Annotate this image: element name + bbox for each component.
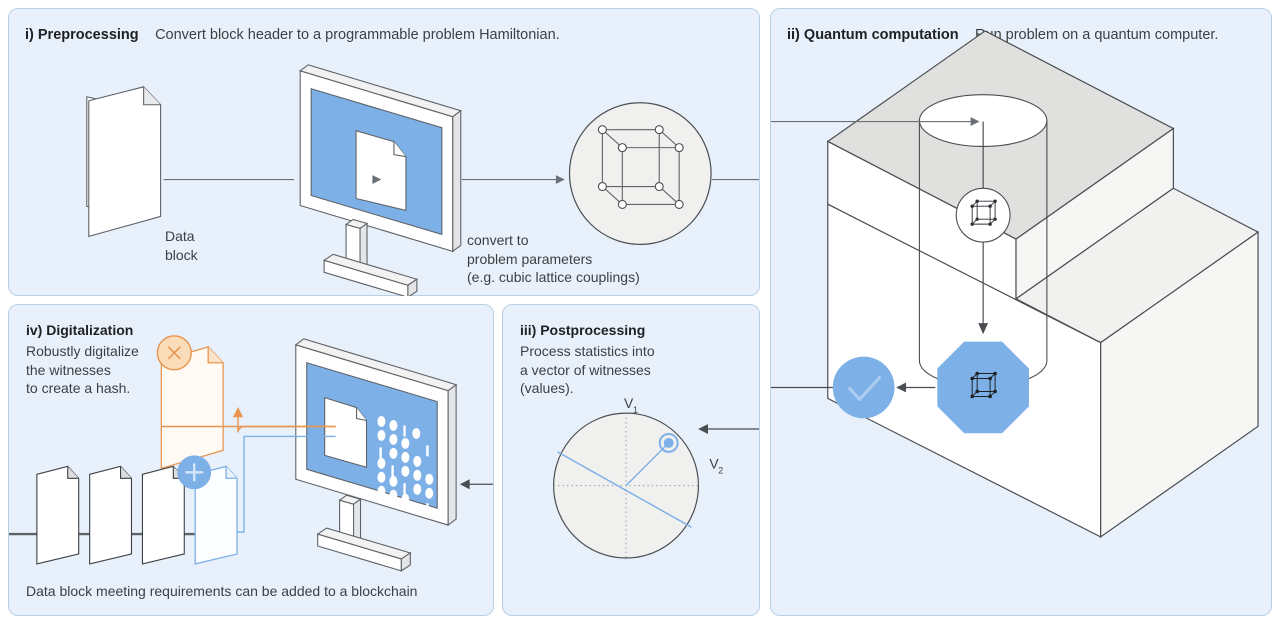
label-map-problem-to-qpu: map problem to QPU — [1019, 136, 1070, 192]
witness-point — [660, 434, 678, 452]
rejected-document — [161, 347, 223, 468]
blockchain-documents — [9, 455, 237, 564]
qpu-circle-nodes — [970, 200, 996, 226]
quantum-computer-graphics — [771, 9, 1271, 615]
panel-postprocessing: iii) Postprocessing Process statistics i… — [502, 304, 760, 616]
panel-quantum-description: Run problem on a quantum computer. — [963, 27, 1218, 43]
data-block-document — [87, 97, 141, 219]
arrow-monitor-to-lattice — [462, 176, 564, 183]
panel-digitalization-description: Robustly digitalize the witnesses to cre… — [26, 342, 139, 398]
arrow-in-map-problem — [771, 118, 978, 125]
arrow-in-from-postprocessing — [461, 480, 493, 488]
blockchain-document — [37, 466, 79, 564]
accepted-document — [195, 466, 237, 564]
arrow-head-into-screen — [373, 176, 380, 183]
panel-preprocessing-number: i) Preprocessing — [25, 27, 139, 43]
preprocessing-graphics — [9, 9, 759, 296]
panel-preprocessing: i) Preprocessing Convert block header to… — [8, 8, 760, 296]
panel-preprocessing-header: i) Preprocessing Convert block header to… — [25, 26, 560, 44]
witness-vector — [626, 446, 666, 486]
arrow-down-to-qpu — [979, 122, 987, 333]
axis-label-v1-sub: 1 — [633, 405, 638, 415]
panel-quantum-number: ii) Quantum computation — [787, 27, 959, 43]
accept-marker — [177, 455, 211, 489]
binary-readout — [377, 416, 433, 514]
panel-quantum-header: ii) Quantum computation Run problem on a… — [787, 26, 1218, 44]
panel-digitalization-caption: Data block meeting requirements can be a… — [26, 582, 417, 601]
monitor-preprocessing — [300, 65, 461, 296]
connector-accept — [222, 436, 336, 536]
cube-graph-nodes — [598, 126, 683, 209]
axis-label-v2: V — [709, 456, 719, 472]
panel-preprocessing-description: Convert block header to a programmable p… — [143, 27, 560, 43]
data-block-document-iso — [89, 87, 161, 237]
panel-postprocessing-description: Process statistics into a vector of witn… — [520, 342, 655, 398]
label-processor: Advantage or Advantage2 processor — [1019, 401, 1109, 457]
label-results: Results — [839, 376, 886, 395]
panel-digitalization: iv) Digitalization Robustly digitalize t… — [8, 304, 494, 616]
arrow-processor-to-results — [897, 383, 935, 391]
processor-octagon — [937, 342, 1029, 434]
plus-icon — [185, 463, 203, 481]
lattice-circle — [569, 103, 711, 245]
label-convert-to-problem-parameters: convert to problem parameters (e.g. cubi… — [467, 231, 640, 287]
monitor-digitalization — [296, 339, 456, 571]
qc-enclosure — [828, 31, 1258, 537]
blockchain-document — [90, 466, 132, 564]
cube-graph — [602, 130, 679, 205]
reject-marker — [157, 336, 191, 370]
label-data-block: Data block — [165, 227, 198, 264]
panel-quantum-computation: ii) Quantum computation Run problem on a… — [770, 8, 1272, 616]
arrow-in-from-results — [699, 425, 759, 433]
witness-disc — [554, 413, 699, 558]
panel-postprocessing-number: iii) Postprocessing — [520, 321, 645, 340]
qpu-circle-icon — [956, 188, 1010, 242]
blockchain-document — [142, 466, 184, 564]
close-icon — [168, 347, 180, 359]
witness-chord — [558, 452, 692, 527]
panel-digitalization-number: iv) Digitalization — [26, 321, 133, 340]
disc-axes — [554, 413, 699, 558]
axis-label-v2-sub: 2 — [718, 466, 723, 476]
arrow-out-to-digitalization — [614, 482, 622, 484]
connector-reject — [234, 409, 336, 433]
